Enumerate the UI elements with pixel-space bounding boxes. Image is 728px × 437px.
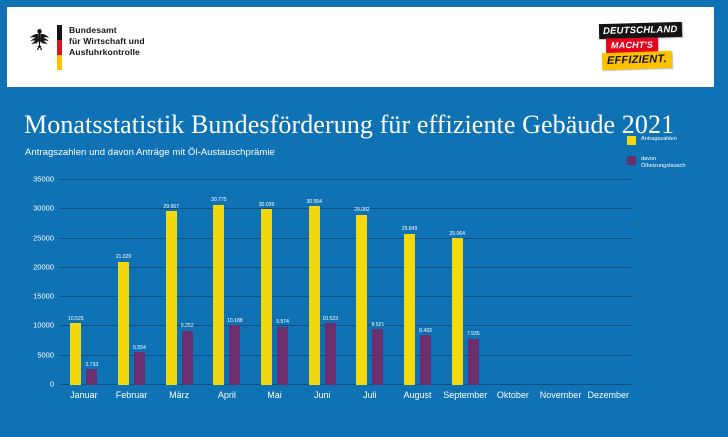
bar-value-label: 29.082 — [354, 207, 370, 213]
y-axis-tick-label: 5000 — [37, 350, 54, 359]
x-axis-label-september: September — [441, 390, 489, 400]
bar-value-label: 9.521 — [371, 322, 384, 328]
x-axis-label-mai: Mai — [251, 390, 299, 400]
bar[interactable]: 10.188 — [229, 325, 240, 385]
german-flag-bar — [57, 25, 62, 70]
bar-value-label: 10.188 — [227, 318, 243, 324]
bar-group: 25.8498.493 — [394, 180, 442, 385]
campaign-logo-line-1: DEUTSCHLAND — [599, 22, 682, 39]
plot-area: 05000100001500020000250003000035000 10.5… — [60, 180, 632, 385]
x-axis-labels: JanuarFebruarMärzAprilMaiJuniJuliAugustS… — [60, 390, 632, 400]
legend-item-oelheizungstausch: davon Ölheizungstausch — [627, 156, 707, 170]
y-axis-tick-label: 0 — [50, 380, 54, 389]
bar-group: 30.55410.523 — [298, 180, 346, 385]
bar[interactable]: 8.493 — [420, 335, 431, 385]
legend-label-line-2: Ölheizungstausch — [641, 163, 685, 170]
deutschland-macht-es-effizient-logo: DEUTSCHLAND MACHT'S EFFIZIENT. — [596, 22, 692, 72]
page-subtitle: Antragszahlen und davon Anträge mit Öl-A… — [25, 147, 275, 158]
x-axis-label-februar: Februar — [108, 390, 156, 400]
bar-value-label: 9.974 — [276, 319, 289, 325]
chart-legend: Antragszahlen davon Ölheizungstausch — [627, 136, 707, 181]
bar-value-label: 10.525 — [68, 316, 84, 322]
y-axis-tick-label: 30000 — [33, 204, 54, 213]
legend-swatch-purple — [627, 156, 636, 165]
bar-value-label: 25.849 — [402, 226, 418, 232]
bar[interactable]: 9.252 — [182, 331, 193, 385]
federal-eagle-icon — [29, 27, 50, 50]
bar-group: 30.0399.974 — [251, 180, 299, 385]
bafa-line-2: für Wirtschaft und — [69, 36, 145, 47]
bar-group: 21.0205.554 — [108, 180, 156, 385]
page-title: Monatsstatistik Bundesförderung für effi… — [24, 110, 674, 140]
bar[interactable]: 21.020 — [118, 262, 129, 385]
bar-value-label: 2.733 — [85, 362, 98, 368]
bar[interactable]: 7.935 — [468, 339, 479, 385]
x-axis-label-juli: Juli — [346, 390, 394, 400]
bar-chart: 05000100001500020000250003000035000 10.5… — [14, 172, 714, 412]
legend-item-antragszahlen: Antragszahlen — [627, 136, 707, 145]
bafa-line-1: Bundesamt — [69, 25, 145, 36]
x-axis-label-juni: Juni — [298, 390, 346, 400]
bafa-logo-text: Bundesamt für Wirtschaft und Ausfuhrkont… — [69, 25, 145, 59]
y-axis-tick-label: 35000 — [33, 175, 54, 184]
bar-value-label: 9.252 — [181, 323, 194, 329]
bar[interactable]: 9.974 — [277, 327, 288, 385]
y-axis-tick-label: 20000 — [33, 262, 54, 271]
legend-label-oelheizungstausch: davon Ölheizungstausch — [641, 156, 685, 170]
bar-group — [537, 180, 585, 385]
y-axis-tick-label: 10000 — [33, 321, 54, 330]
bar-value-label: 5.554 — [133, 345, 146, 351]
bar[interactable]: 30.554 — [309, 206, 320, 385]
bar-group: 25.0647.935 — [441, 180, 489, 385]
bar[interactable]: 9.521 — [372, 329, 383, 385]
slide-root: Bundesamt für Wirtschaft und Ausfuhrkont… — [0, 0, 728, 437]
bafa-logo: Bundesamt für Wirtschaft und Ausfuhrkont… — [29, 25, 145, 70]
bar-group: 29.6579.252 — [155, 180, 203, 385]
bar-group: 10.5252.733 — [60, 180, 108, 385]
bar[interactable]: 30.775 — [213, 205, 224, 385]
x-axis-label-oktober: Oktober — [489, 390, 537, 400]
bar[interactable]: 29.657 — [166, 211, 177, 385]
bar[interactable]: 10.525 — [70, 323, 81, 385]
bar-value-label: 25.064 — [449, 231, 465, 237]
bar-value-label: 8.493 — [419, 328, 432, 334]
legend-label-line-1: davon — [641, 156, 685, 163]
legend-swatch-yellow — [627, 136, 636, 145]
bar[interactable]: 25.064 — [452, 238, 463, 385]
bar-group: 30.77510.188 — [203, 180, 251, 385]
bar-group — [489, 180, 537, 385]
bar-value-label: 30.775 — [211, 197, 227, 203]
header-band: Bundesamt für Wirtschaft und Ausfuhrkont… — [7, 7, 714, 87]
x-axis-label-märz: März — [155, 390, 203, 400]
x-axis-label-januar: Januar — [60, 390, 108, 400]
bar-value-label: 7.935 — [467, 331, 480, 337]
campaign-logo-line-3: EFFIZIENT. — [602, 51, 672, 70]
bar-groups: 10.5252.73321.0205.55429.6579.25230.7751… — [60, 180, 632, 385]
bar[interactable]: 29.082 — [356, 215, 367, 385]
bar-value-label: 21.020 — [116, 254, 132, 260]
bar-value-label: 30.554 — [306, 199, 322, 205]
bar[interactable]: 5.554 — [134, 352, 145, 385]
bar-value-label: 10.523 — [322, 316, 338, 322]
bar-group: 29.0829.521 — [346, 180, 394, 385]
bar-group — [584, 180, 632, 385]
bar[interactable]: 25.849 — [404, 234, 415, 385]
bafa-line-3: Ausfuhrkontrolle — [69, 47, 145, 58]
bar-value-label: 30.039 — [259, 202, 275, 208]
y-axis-tick-label: 15000 — [33, 292, 54, 301]
x-axis-label-april: April — [203, 390, 251, 400]
x-axis-label-dezember: Dezember — [584, 390, 632, 400]
legend-label-antragszahlen: Antragszahlen — [641, 136, 677, 143]
y-axis-tick-label: 25000 — [33, 233, 54, 242]
bar-value-label: 29.657 — [163, 204, 179, 210]
bar[interactable]: 2.733 — [86, 369, 97, 385]
bar[interactable]: 10.523 — [325, 323, 336, 385]
x-axis-label-august: August — [394, 390, 442, 400]
bar[interactable]: 30.039 — [261, 209, 272, 385]
x-axis-label-november: November — [537, 390, 585, 400]
